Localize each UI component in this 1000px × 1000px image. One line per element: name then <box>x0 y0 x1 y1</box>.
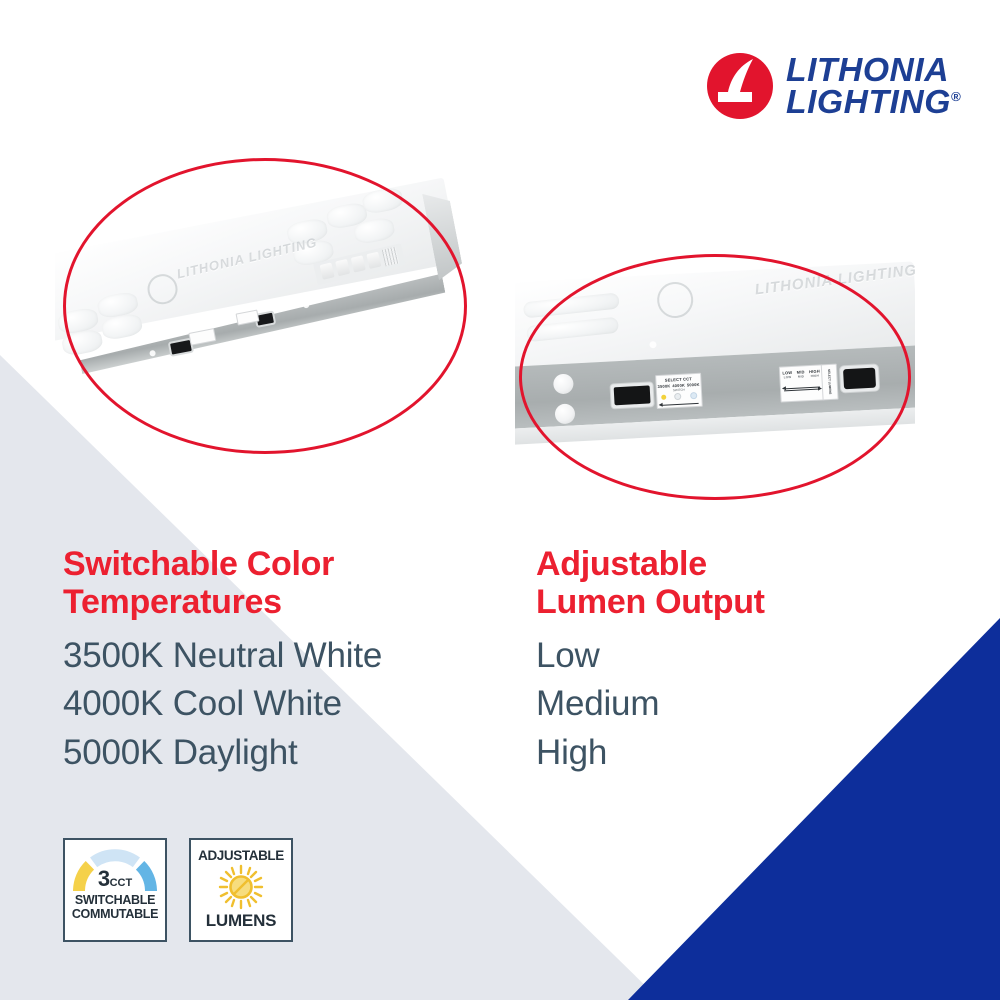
badge-lumens-line1: ADJUSTABLE <box>198 848 284 863</box>
list-item-4000k: 4000K Cool White <box>63 680 493 729</box>
list-item-high: High <box>536 729 896 778</box>
fixture-vent <box>382 247 399 267</box>
fixture-cct-select-label: SELECT CCT 3500K 4000K 5000K SWITCH <box>655 373 703 409</box>
lumen-label-arrow-right-icon <box>781 385 823 393</box>
fixture-switch <box>351 255 366 272</box>
led-panel-fixture: LITHONIA LIGHTING <box>55 168 475 448</box>
registered-mark: ® <box>951 89 961 104</box>
fixture-switch <box>366 252 381 269</box>
badge-cct-caption: SWITCHABLE COMMUTABLE <box>72 894 158 921</box>
heading-switchable-color-temperatures: Switchable Color Temperatures <box>63 545 493 622</box>
fixture-lumen-side-label: SELECT LUMENS <box>821 364 839 401</box>
badge-cct-line1: SWITCHABLE <box>72 894 158 908</box>
badge-cct-line2: COMMUTABLE <box>72 908 158 922</box>
cct-label-arrow-icon <box>657 400 701 408</box>
list-color-temperatures: 3500K Neutral White 4000K Cool White 500… <box>63 632 493 778</box>
cct-option-3500k: 3500K <box>657 383 670 389</box>
brand-wordmark: LITHONIA LIGHTING® <box>786 54 958 119</box>
fixture-lumen-socket <box>839 363 880 393</box>
heading-adjustable-lumen-output: Adjustable Lumen Output <box>536 545 896 622</box>
list-item-5000k: 5000K Daylight <box>63 729 493 778</box>
fixture-lumen-select-label: LOW MID HIGH LOW MID HIGH <box>779 364 825 402</box>
lumen-suboption-mid: MID <box>798 374 804 378</box>
lumen-side-label-text: SELECT LUMENS <box>827 369 832 395</box>
column-adjustable-lumen-output: Adjustable Lumen Output Low Medium High <box>536 545 896 778</box>
fixture-screw <box>301 292 308 299</box>
list-item-medium: Medium <box>536 680 896 729</box>
list-item-3500k: 3500K Neutral White <box>63 632 493 681</box>
brand-logo: LITHONIA LIGHTING® <box>706 48 946 124</box>
cct-option-5000k: 5000K <box>687 382 700 388</box>
lithonia-l-swoosh-icon <box>706 52 774 120</box>
certification-badges: 3CCT SWITCHABLE COMMUTABLE ADJUSTABLE <box>63 838 293 942</box>
lumen-suboption-low: LOW <box>784 375 792 379</box>
swatch-3500k <box>661 395 666 400</box>
lumen-label-suboptions: LOW MID HIGH <box>780 373 822 379</box>
cct-number: 3 <box>98 866 110 891</box>
list-lumen-levels: Low Medium High <box>536 632 896 778</box>
badge-lumens-line2: LUMENS <box>206 911 277 931</box>
fixture-lumen-switch[interactable] <box>843 368 876 390</box>
badge-adjustable-lumens: ADJUSTABLE <box>189 838 293 942</box>
marketing-graphic: LITHONIA LIGHTING® LITHONIA LIGHTING <box>0 0 1000 1000</box>
lumen-suboption-high: HIGH <box>811 374 820 378</box>
list-item-low: Low <box>536 632 896 681</box>
led-panel-fixture-closeup: LITHONIA LIGHTING SELECT CCT 3500K 4000K… <box>515 261 915 482</box>
sun-dimmer-icon <box>213 863 269 911</box>
swatch-5000k <box>690 392 697 399</box>
swatch-4000k <box>675 393 682 400</box>
badge-3cct-switchable: 3CCT SWITCHABLE COMMUTABLE <box>63 838 167 942</box>
fixture-cct-socket <box>609 381 654 409</box>
photo-switchable-cct: LITHONIA LIGHTING <box>55 150 475 465</box>
fixture-switch <box>335 259 350 276</box>
cct-unit: CCT <box>110 877 133 889</box>
brand-name-line2: LIGHTING® <box>786 86 961 118</box>
fixture-switch <box>320 262 335 279</box>
photo-adjustable-lumens: LITHONIA LIGHTING SELECT CCT 3500K 4000K… <box>515 250 915 505</box>
column-switchable-color-temperatures: Switchable Color Temperatures 3500K Neut… <box>63 545 493 778</box>
cct-arc-icon: 3CCT <box>73 849 157 893</box>
fixture-screw <box>151 361 158 368</box>
cct-value-group: 3CCT <box>73 868 157 890</box>
brand-name-line1: LITHONIA <box>786 54 961 86</box>
fixture-cct-switch[interactable] <box>614 385 651 405</box>
